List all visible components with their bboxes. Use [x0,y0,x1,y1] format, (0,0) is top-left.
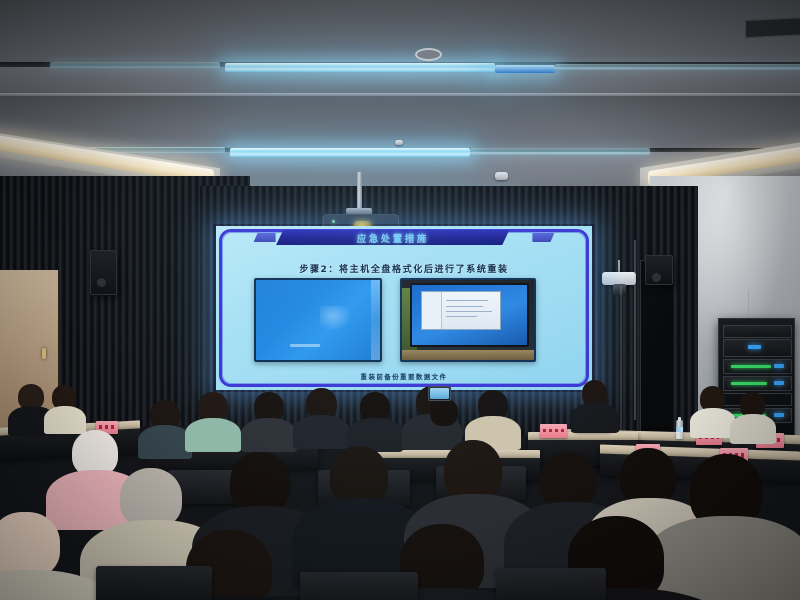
taskbar-icon [371,280,380,360]
chair [300,572,418,600]
ceiling-strip-light [50,62,220,68]
desk-surface [402,350,534,360]
projector-led-icon [332,220,335,223]
conference-room-photo: 应急处置措施 步骤2：将主机全盘格式化后进行了系统重装 [0,0,800,600]
wall-speaker-left [90,250,117,295]
ceiling-strip-light [495,65,555,73]
ceiling-strip-light [470,148,650,155]
ceiling-vent [745,16,800,38]
rack-led-icon [774,364,784,368]
monitor-bezel [410,283,528,347]
slide-caption: 重装前备份重要数据文件 [216,371,592,381]
projection-screen: 应急处置措施 步骤2：将主机全盘格式化后进行了系统重装 [216,226,592,390]
slide-image-right [400,278,536,362]
smartphone [428,386,451,401]
water-bottle [676,420,683,439]
slide-title: 应急处置措施 [276,230,509,245]
explorer-sidebar [422,292,442,329]
rack-led-icon [731,365,771,368]
cable [620,286,622,431]
projector-pole [357,172,362,210]
name-card [540,424,567,438]
rack-led-icon [774,413,784,417]
ceiling-downlight [415,48,442,61]
chair [96,566,212,600]
slide-body-text: 步骤2：将主机全盘格式化后进行了系统重装 [216,262,592,275]
rack-led-icon [774,381,784,385]
rack-led-icon [731,382,767,385]
ceiling-strip-light [225,63,495,72]
desktop-text [290,344,320,347]
chair [496,568,606,600]
ceiling-strip-light [555,64,800,70]
rack-led-icon [748,345,761,349]
wall-speaker-right [645,255,673,285]
smoke-detector-icon [495,172,508,180]
door-handle-icon[interactable] [42,348,46,359]
ceiling-strip-light [230,148,470,157]
smoke-detector-icon [395,140,403,145]
cable [634,240,636,420]
slide-image-left [254,278,382,362]
file-explorer-window [421,291,501,330]
doorway-right [640,260,673,436]
slide: 应急处置措施 步骤2：将主机全盘格式化后进行了系统重装 [216,226,592,390]
